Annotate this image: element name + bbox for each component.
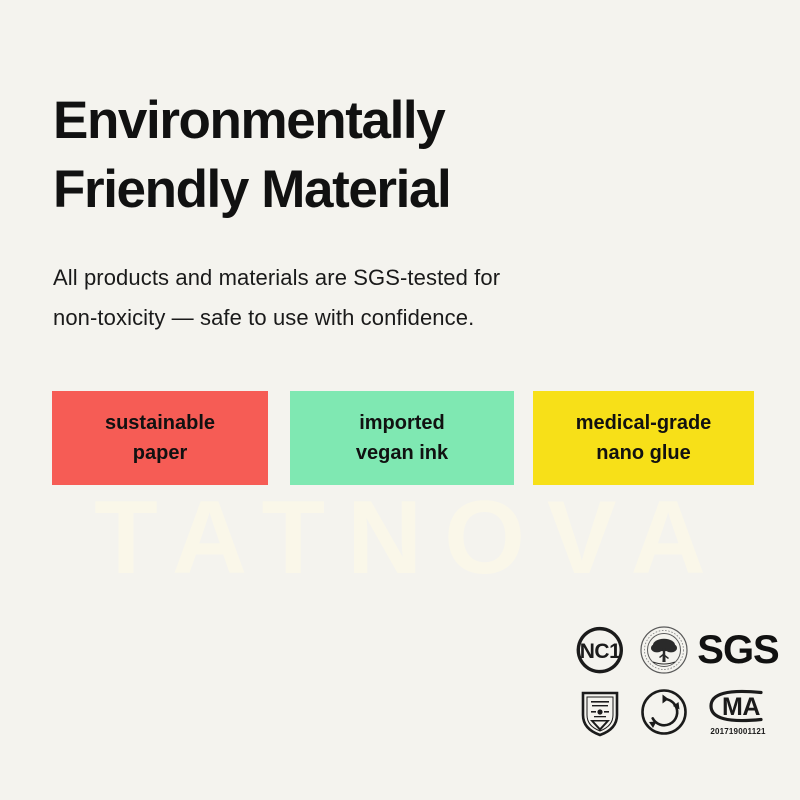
- badge-label-line-1: imported: [359, 408, 445, 438]
- recycling-arrows-icon: [637, 686, 691, 738]
- page-subtitle: All products and materials are SGS-teste…: [53, 258, 673, 338]
- svg-text:MA: MA: [722, 693, 760, 721]
- certification-row-bottom: MA 201719001121: [573, 684, 781, 740]
- badge-label-line-2: paper: [133, 438, 187, 468]
- sgs-certification-icon: SGS: [699, 628, 777, 672]
- svg-text:NC1: NC1: [580, 640, 621, 663]
- cma-certificate-number: 201719001121: [710, 727, 765, 737]
- badge-medical-grade-nano-glue: medical-grade nano glue: [533, 391, 754, 485]
- material-badge-row: sustainable paper imported vegan ink med…: [52, 391, 758, 487]
- marketing-banner: TATNOVA Environmentally Friendly Materia…: [0, 0, 800, 800]
- badge-label-line-2: nano glue: [596, 438, 690, 468]
- page-title: Environmentally Friendly Material: [53, 86, 713, 224]
- sgs-label: SGS: [697, 630, 778, 670]
- badge-label-line-1: medical-grade: [576, 408, 712, 438]
- nc1-certification-icon: NC1: [573, 624, 627, 676]
- cma-mark-wrapper: MA 201719001121: [699, 687, 777, 737]
- badge-sustainable-paper: sustainable paper: [52, 391, 268, 485]
- badge-label-line-1: sustainable: [105, 408, 215, 438]
- page-subtitle-line-2: non-toxicity — safe to use with confiden…: [53, 298, 673, 338]
- badge-label-line-2: vegan ink: [356, 438, 448, 468]
- cma-certification-icon: MA 201719001121: [699, 685, 777, 739]
- page-title-line-1: Environmentally: [53, 86, 713, 155]
- brand-watermark: TATNOVA: [0, 486, 800, 590]
- badge-imported-vegan-ink: imported vegan ink: [290, 391, 514, 485]
- page-subtitle-line-1: All products and materials are SGS-teste…: [53, 258, 673, 298]
- fsc-tree-seal-icon: [637, 624, 691, 676]
- certification-row-top: NC1: [573, 622, 781, 678]
- shield-certification-icon: [573, 685, 627, 739]
- page-title-line-2: Friendly Material: [53, 155, 713, 224]
- certification-logos: NC1: [573, 622, 781, 744]
